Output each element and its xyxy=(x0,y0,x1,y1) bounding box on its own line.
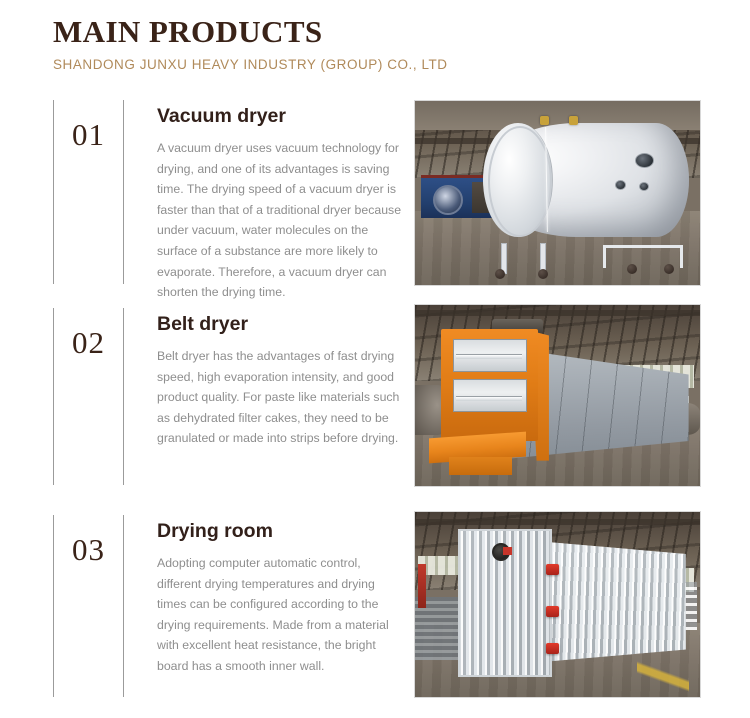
product-photo-3 xyxy=(414,511,701,698)
conveyor-belt-upper xyxy=(456,354,522,359)
product-body-2: Belt dryer Belt dryer has the advantages… xyxy=(157,304,407,449)
roof-beam xyxy=(415,519,700,525)
tank-port xyxy=(615,180,626,190)
tank-port xyxy=(639,182,649,191)
product-index-3: 03 xyxy=(53,533,124,567)
product-heading-1: Vacuum dryer xyxy=(157,104,407,128)
product-item-2: 02 Belt dryer Belt dryer has the advanta… xyxy=(0,304,750,489)
product-heading-2: Belt dryer xyxy=(157,312,407,336)
product-item-1: 01 Vacuum dryer A vacuum dryer uses vacu… xyxy=(0,96,750,288)
page-title: MAIN PRODUCTS xyxy=(53,14,713,50)
floor-marking-line xyxy=(637,656,688,697)
product-item-3: 03 Drying room Adopting computer automat… xyxy=(0,511,750,701)
product-index-1: 01 xyxy=(53,118,124,152)
page-header: MAIN PRODUCTS SHANDONG JUNXU HEAVY INDUS… xyxy=(53,14,713,74)
product-heading-3: Drying room xyxy=(157,519,407,543)
product-photo-1 xyxy=(414,100,701,286)
product-photo-2 xyxy=(414,304,701,487)
product-text-1: A vacuum dryer uses vacuum technology fo… xyxy=(157,138,407,303)
belt-dryer-scene xyxy=(415,305,700,486)
roof-beam xyxy=(415,310,700,316)
belt-dryer-base xyxy=(449,457,512,475)
drying-room-scene xyxy=(415,512,700,697)
company-subtitle: SHANDONG JUNXU HEAVY INDUSTRY (GROUP) CO… xyxy=(53,56,713,74)
vacuum-dryer-scene xyxy=(415,101,700,285)
door-latch xyxy=(546,643,559,654)
door-latch xyxy=(546,606,559,617)
conveyor-belt-lower xyxy=(456,396,522,401)
tank-port xyxy=(635,153,654,168)
red-post xyxy=(418,564,426,608)
tank-top-valve xyxy=(540,116,549,125)
product-body-3: Drying room Adopting computer automatic … xyxy=(157,511,407,677)
door-latch xyxy=(546,564,559,575)
product-index-2: 02 xyxy=(53,326,124,360)
product-text-2: Belt dryer has the advantages of fast dr… xyxy=(157,346,407,449)
vacuum-tank-door-ring xyxy=(488,126,552,237)
valve-handle xyxy=(503,547,512,555)
product-text-3: Adopting computer automatic control, dif… xyxy=(157,553,407,677)
tank-top-valve xyxy=(569,116,578,125)
product-body-1: Vacuum dryer A vacuum dryer uses vacuum … xyxy=(157,96,407,303)
